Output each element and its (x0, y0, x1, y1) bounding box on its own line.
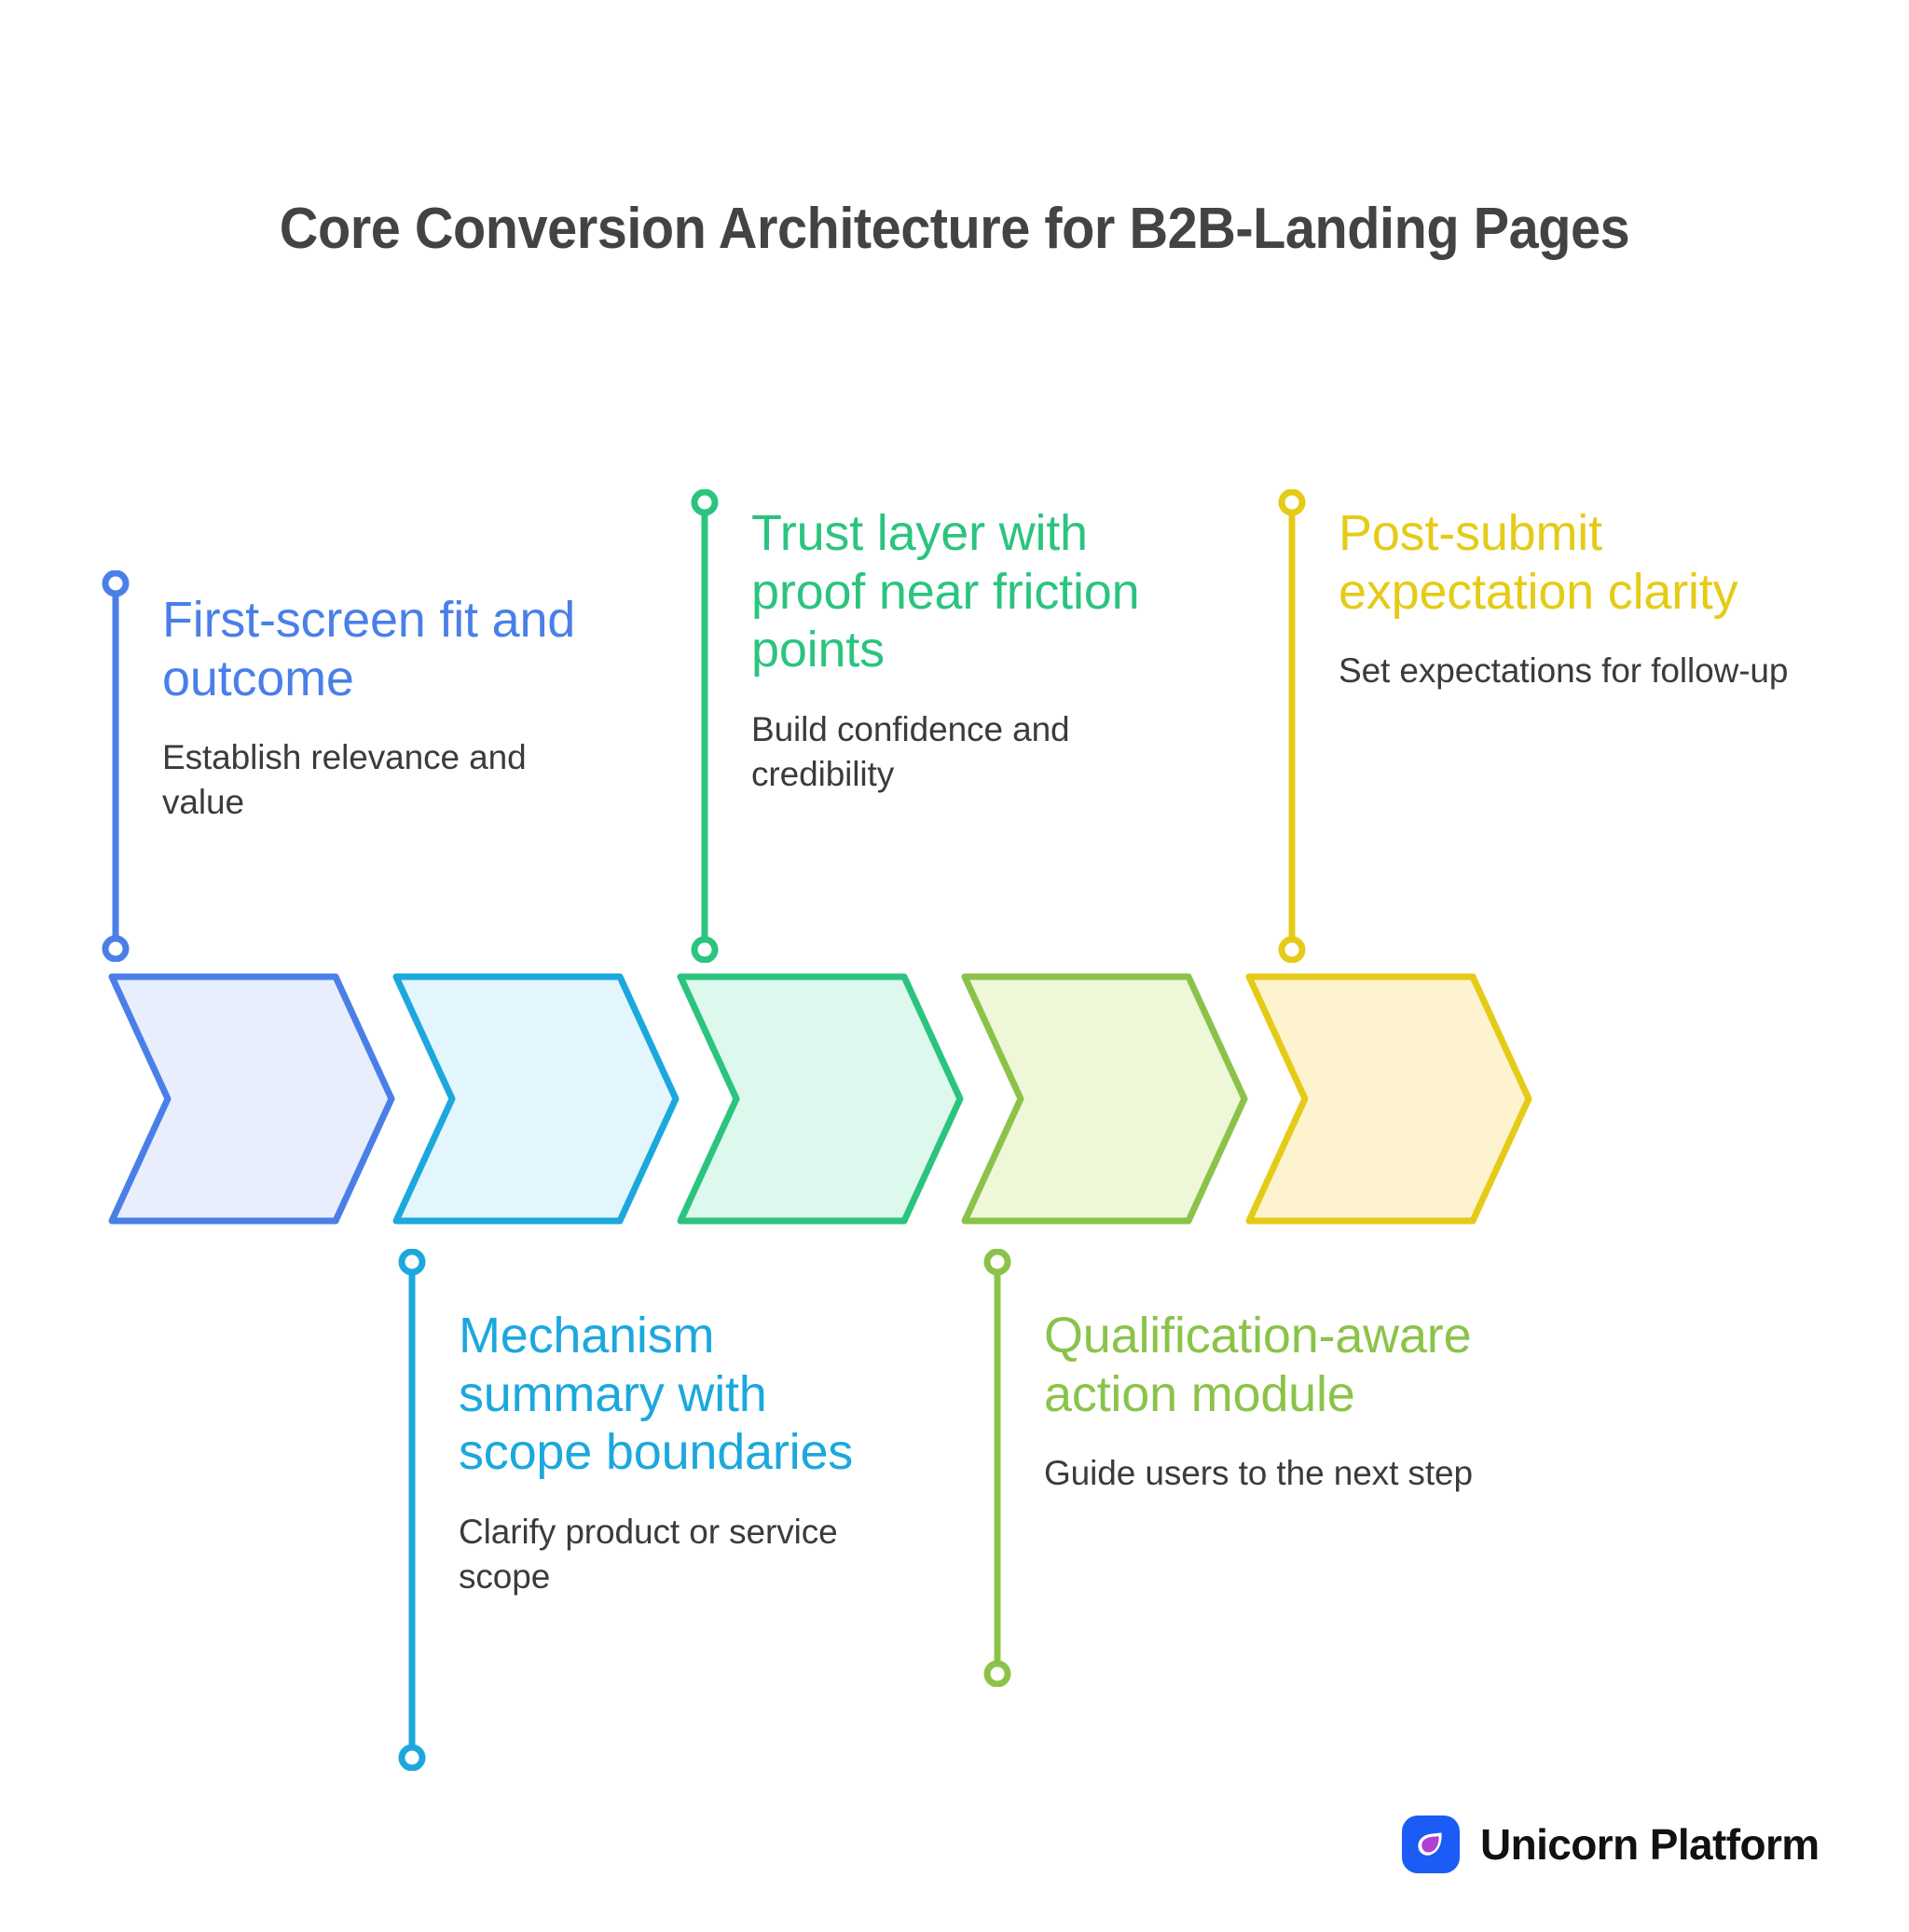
callout-description-step-4: Guide users to the next step (1044, 1451, 1491, 1496)
page-title: Core Conversion Architecture for B2B-Lan… (150, 196, 1759, 263)
chevron-step-5[interactable] (1249, 977, 1529, 1221)
chevron-step-1[interactable] (112, 977, 391, 1221)
chevron-step-4[interactable] (965, 977, 1244, 1221)
connector-line-step-3 (686, 489, 723, 963)
callout-step-3: Trust layer with proof near friction poi… (686, 489, 1208, 963)
chevron-step-3[interactable] (680, 977, 960, 1221)
callout-description-step-2: Clarify product or service scope (459, 1510, 906, 1599)
chevron-step-2[interactable] (396, 977, 676, 1221)
callout-description-step-3: Build confidence and credibility (751, 707, 1199, 797)
callout-text-step-1: First-screen fit and outcome Establish r… (162, 591, 600, 825)
callout-description-step-1: Establish relevance and value (162, 735, 600, 825)
connector-line-step-2 (393, 1249, 431, 1771)
connector-line-step-5 (1273, 489, 1311, 963)
infographic-canvas: Core Conversion Architecture for B2B-Lan… (0, 0, 1909, 1932)
callout-heading-step-5: Post-submit expectation clarity (1339, 504, 1795, 621)
unicorn-platform-logo: Unicorn Platform (1402, 1816, 1820, 1873)
callout-text-step-2: Mechanism summary with scope boundaries … (459, 1307, 906, 1599)
callout-step-2: Mechanism summary with scope boundaries … (393, 1249, 915, 1771)
callout-step-5: Post-submit expectation clarity Set expe… (1273, 489, 1814, 963)
connector-line-step-4 (979, 1249, 1016, 1687)
chevron-flow (0, 0, 1909, 1932)
callout-text-step-5: Post-submit expectation clarity Set expe… (1339, 504, 1795, 693)
callout-text-step-4: Qualification-aware action module Guide … (1044, 1307, 1491, 1496)
connector-line-step-1 (97, 570, 134, 962)
callout-text-step-3: Trust layer with proof near friction poi… (751, 504, 1199, 797)
callout-step-4: Qualification-aware action module Guide … (979, 1249, 1501, 1687)
callout-step-1: First-screen fit and outcome Establish r… (97, 570, 619, 962)
callout-heading-step-4: Qualification-aware action module (1044, 1307, 1491, 1423)
callout-heading-step-1: First-screen fit and outcome (162, 591, 600, 707)
brand-name: Unicorn Platform (1480, 1819, 1820, 1870)
callout-heading-step-2: Mechanism summary with scope boundaries (459, 1307, 906, 1482)
callout-description-step-5: Set expectations for follow-up (1339, 649, 1795, 693)
callout-heading-step-3: Trust layer with proof near friction poi… (751, 504, 1199, 679)
unicorn-leaf-icon (1402, 1816, 1460, 1873)
